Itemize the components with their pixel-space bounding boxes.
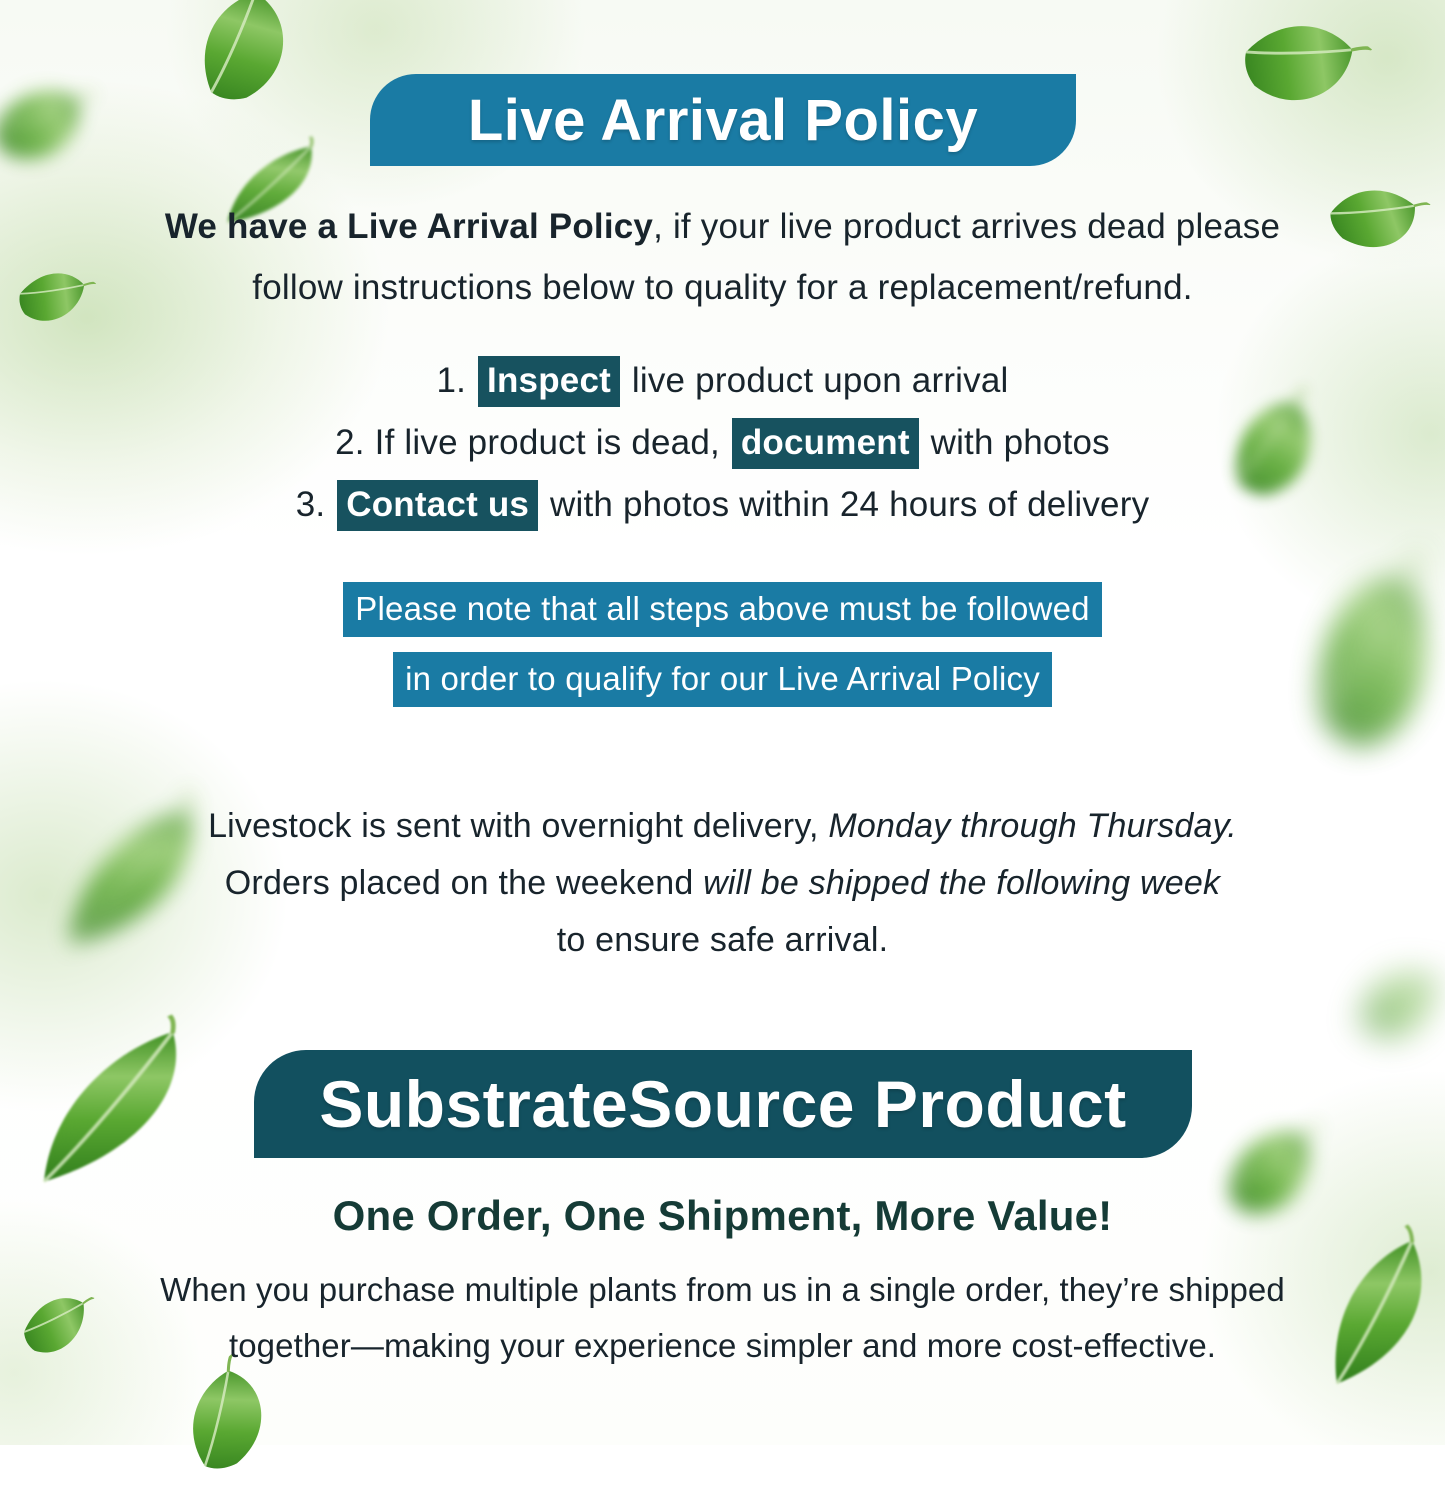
livestock-line-2: Orders placed on the weekend will be shi… <box>150 855 1295 912</box>
livestock-shipping-paragraph: Livestock is sent with overnight deliver… <box>150 798 1295 969</box>
policy-steps-list: 1. Inspect live product upon arrival 2. … <box>150 350 1295 536</box>
product-subheading: One Order, One Shipment, More Value! <box>150 1192 1295 1240</box>
substratesource-product-banner: SubstrateSource Product <box>254 1050 1192 1158</box>
step-2-highlight-document: document <box>732 418 919 469</box>
livestock-line-1-plain: Livestock is sent with overnight deliver… <box>208 807 819 845</box>
product-description: When you purchase multiple plants from u… <box>130 1262 1315 1374</box>
product-description-line-1: When you purchase multiple plants from u… <box>130 1262 1315 1318</box>
policy-note-block: Please note that all steps above must be… <box>150 582 1295 722</box>
live-arrival-policy-banner: Live Arrival Policy <box>370 74 1076 166</box>
step-2-text-after: with photos <box>931 423 1110 462</box>
live-arrival-policy-page: Live Arrival Policy We have a Live Arriv… <box>0 0 1445 1445</box>
step-1-highlight-inspect: Inspect <box>478 356 620 407</box>
policy-step-3: 3. Contact us with photos within 24 hour… <box>150 474 1295 536</box>
step-1-number: 1. <box>437 361 467 400</box>
step-2-text-before: If live product is dead, <box>375 423 720 462</box>
policy-note-line-2: in order to qualify for our Live Arrival… <box>393 652 1052 707</box>
livestock-line-3: to ensure safe arrival. <box>150 912 1295 969</box>
substratesource-product-title: SubstrateSource Product <box>319 1066 1126 1142</box>
policy-intro-paragraph: We have a Live Arrival Policy, if your l… <box>150 196 1295 318</box>
policy-note-row-2: in order to qualify for our Live Arrival… <box>150 652 1295 707</box>
livestock-line-2-italic: will be shipped the following week <box>703 864 1220 902</box>
policy-intro-strong: We have a Live Arrival Policy <box>165 207 653 246</box>
step-1-text: live product upon arrival <box>632 361 1009 400</box>
policy-note-line-1: Please note that all steps above must be… <box>343 582 1101 637</box>
step-2-number: 2. <box>335 423 365 462</box>
step-3-number: 3. <box>296 485 326 524</box>
livestock-line-1-italic: Monday through Thursday. <box>828 807 1237 845</box>
policy-step-2: 2. If live product is dead, document wit… <box>150 412 1295 474</box>
livestock-line-1: Livestock is sent with overnight deliver… <box>150 798 1295 855</box>
policy-step-1: 1. Inspect live product upon arrival <box>150 350 1295 412</box>
product-description-line-2: together—making your experience simpler … <box>130 1318 1315 1374</box>
step-3-text: with photos within 24 hours of delivery <box>550 485 1149 524</box>
step-3-highlight-contact-us[interactable]: Contact us <box>337 480 538 531</box>
livestock-line-2-plain: Orders placed on the weekend <box>225 864 694 902</box>
live-arrival-policy-title: Live Arrival Policy <box>468 87 978 154</box>
policy-note-row-1: Please note that all steps above must be… <box>150 582 1295 637</box>
